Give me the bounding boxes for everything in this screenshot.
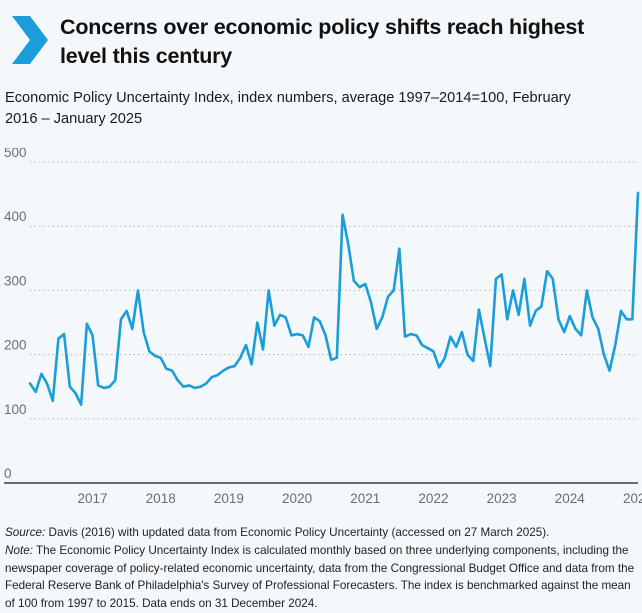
x-axis-tick-label: 2023: [487, 491, 517, 506]
x-axis-labels: 201720182019202020212022202320242025: [78, 491, 642, 506]
x-axis-tick-label: 2020: [282, 491, 312, 506]
page-title: Concerns over economic policy shifts rea…: [60, 12, 628, 70]
gridlines: [30, 162, 638, 419]
chevron-right-icon: [10, 14, 50, 66]
chart-container: 0100200300400500 20172018201920202021202…: [0, 148, 642, 520]
y-axis-tick-label: 300: [4, 273, 27, 288]
footnote-source-label: Source:: [5, 526, 45, 539]
chart-page: Concerns over economic policy shifts rea…: [0, 0, 642, 612]
y-axis-tick-label: 200: [4, 338, 27, 353]
footnote-source-text: Davis (2016) with updated data from Econ…: [45, 526, 549, 539]
footnote-note: Note: The Economic Policy Uncertainty In…: [5, 542, 637, 613]
y-axis-tick-label: 400: [4, 209, 27, 224]
chart-subtitle: Economic Policy Uncertainty Index, index…: [5, 88, 605, 129]
header: Concerns over economic policy shifts rea…: [0, 0, 642, 70]
y-axis-tick-label: 500: [4, 148, 27, 160]
y-axis-tick-label: 100: [4, 402, 27, 417]
x-axis-tick-label: 2021: [350, 491, 380, 506]
x-axis-tick-label: 2022: [418, 491, 448, 506]
x-axis-tick-label: 2017: [78, 491, 108, 506]
footnote-note-text: The Economic Policy Uncertainty Index is…: [5, 544, 634, 610]
x-axis-tick-label: 2019: [214, 491, 244, 506]
line-chart: 0100200300400500 20172018201920202021202…: [0, 148, 642, 520]
y-axis-labels: 0100200300400500: [4, 148, 27, 481]
y-axis-tick-label: 0: [4, 466, 12, 481]
footnote-source: Source: Davis (2016) with updated data f…: [5, 524, 637, 542]
x-axis-tick-label: 2025: [623, 491, 642, 506]
x-axis-tick-label: 2018: [146, 491, 176, 506]
footnotes: Source: Davis (2016) with updated data f…: [5, 524, 637, 613]
series-line-economic-policy-uncertainty-index: [30, 193, 638, 405]
x-axis-tick-label: 2024: [555, 491, 586, 506]
footnote-note-label: Note:: [5, 544, 33, 557]
